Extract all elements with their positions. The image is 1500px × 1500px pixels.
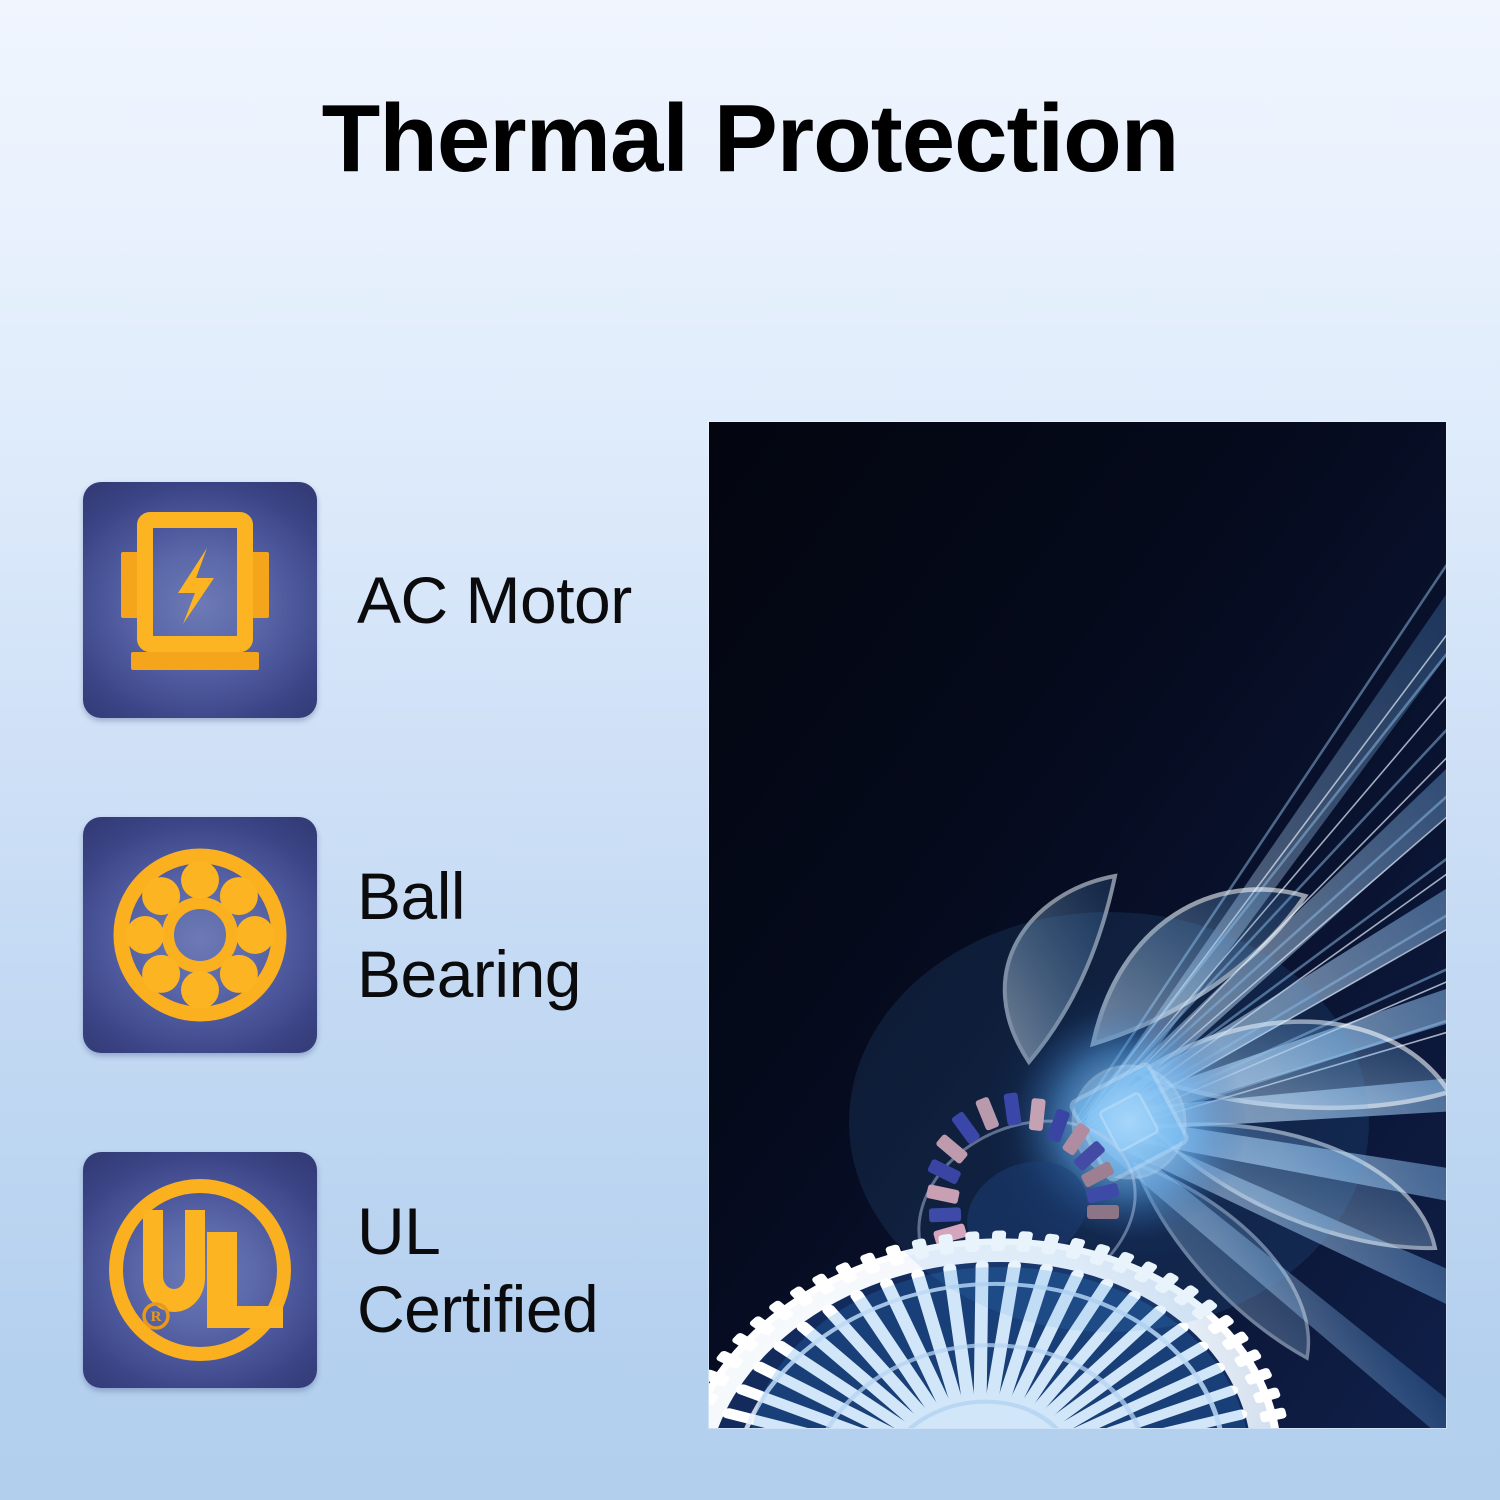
feature-label-ac-motor: AC Motor [357, 561, 632, 639]
svg-text:R: R [151, 1309, 162, 1325]
ul-certified-icon-tile: R [83, 1152, 317, 1388]
ul-certified-icon: R [83, 1152, 317, 1388]
ac-motor-icon [83, 482, 317, 718]
feature-label-ul-certified: UL Certified [357, 1192, 598, 1348]
ball-bearing-icon-tile [83, 817, 317, 1053]
feature-item-ball-bearing: Ball Bearing [83, 817, 581, 1053]
feature-item-ac-motor: AC Motor [83, 482, 632, 718]
page-title: Thermal Protection [0, 84, 1500, 194]
feature-item-ul-certified: R UL Certified [83, 1152, 598, 1388]
infographic-root: Thermal Protection AC Motor [0, 0, 1500, 1500]
ac-motor-icon-tile [83, 482, 317, 718]
feature-label-ball-bearing: Ball Bearing [357, 857, 581, 1013]
ball-bearing-icon [83, 817, 317, 1053]
fan-motor-airflow-photo [709, 422, 1446, 1428]
photo-illustration [709, 422, 1446, 1428]
